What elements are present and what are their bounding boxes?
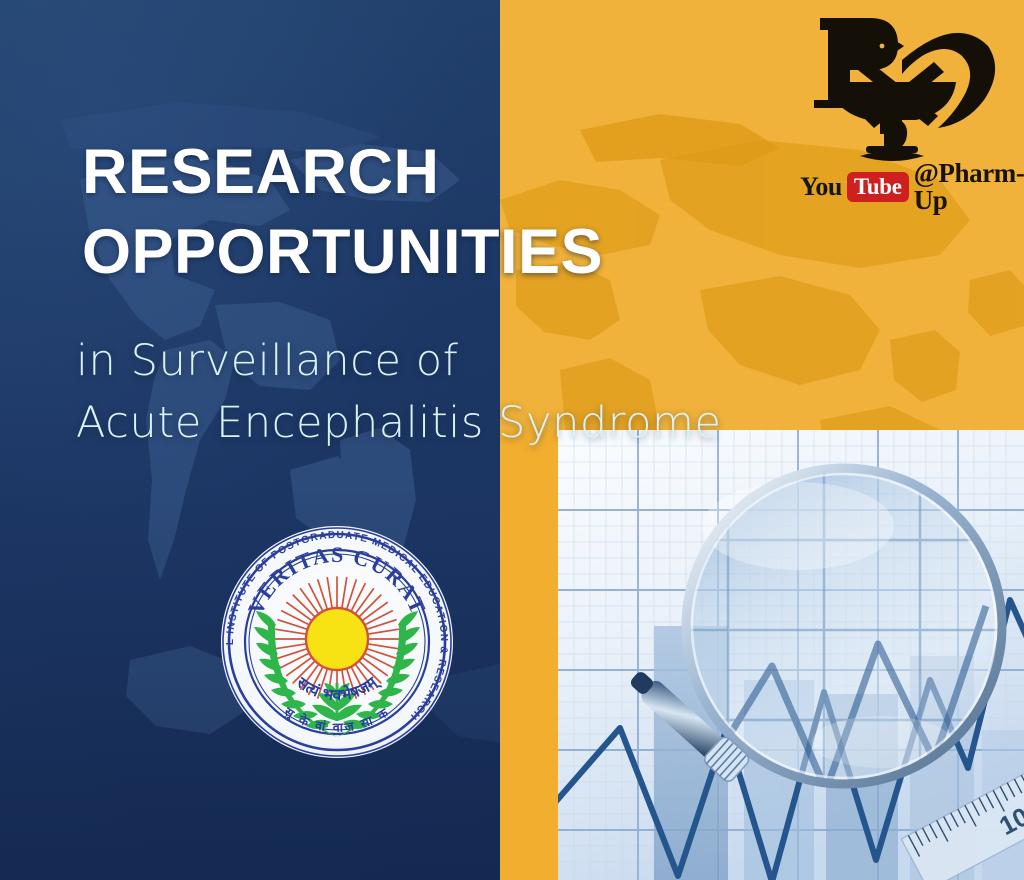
subhead-line-2: Acute Encephalitis Syndrome — [76, 392, 776, 454]
page-subtitle: in Surveillance of Acute Encephalitis Sy… — [76, 330, 776, 454]
seal-sun-icon — [306, 608, 368, 670]
yellow-side-strip — [500, 430, 558, 880]
youtube-you-text: You — [800, 174, 842, 200]
youtube-tube-icon: Tube — [847, 172, 909, 202]
headline-line-2: OPPORTUNITIES — [82, 212, 702, 292]
headline-line-1: RESEARCH — [82, 132, 702, 212]
page-title: RESEARCH OPPORTUNITIES — [82, 132, 702, 292]
youtube-channel-badge[interactable]: You Tube @Pharm-Up — [800, 172, 1024, 202]
subhead-line-1: in Surveillance of — [76, 330, 776, 392]
rx-pharmacy-logo-icon — [806, 8, 1006, 170]
jipmer-institute-seal: JAWAHARLAL INSTITUTE OF POSTGRADUATE MED… — [216, 521, 458, 763]
research-photo-graph-magnifier: 10 — [558, 430, 1024, 880]
poster-canvas: RESEARCH OPPORTUNITIES in Surveillance o… — [0, 0, 1024, 880]
youtube-handle-text: @Pharm-Up — [914, 160, 1024, 214]
